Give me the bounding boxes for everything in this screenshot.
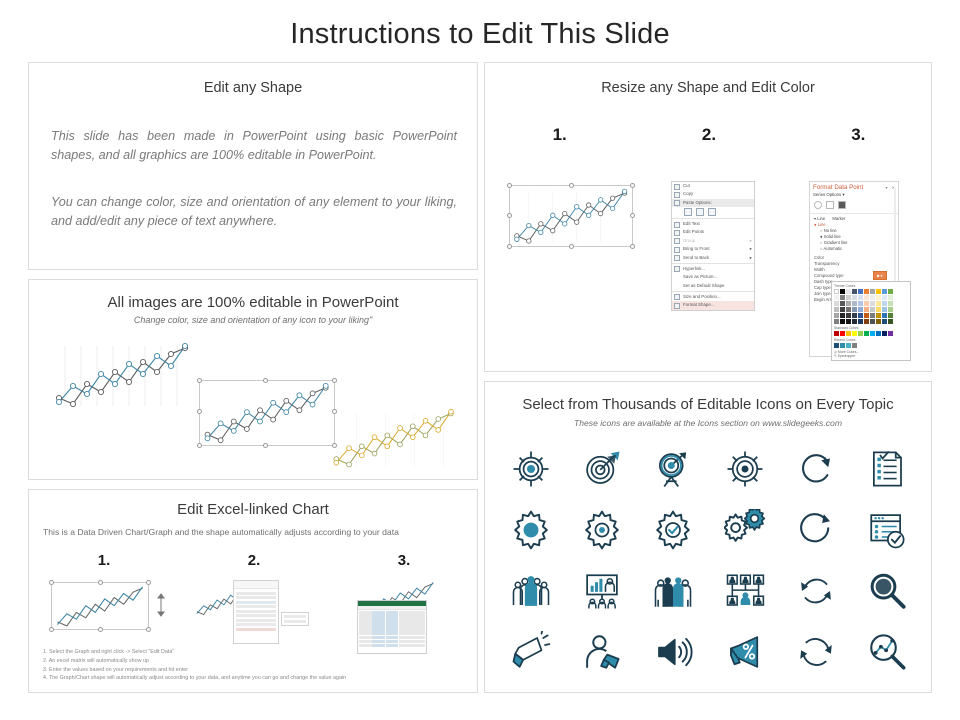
swatch[interactable] <box>876 319 881 324</box>
target-dart-icon[interactable] <box>581 448 623 490</box>
gears-pair-icon[interactable] <box>724 509 766 551</box>
excel-step-2: 2. <box>189 552 319 656</box>
gear-check-icon[interactable] <box>652 509 694 551</box>
swatch[interactable] <box>846 289 851 294</box>
panel-title-images: All images are 100% editable in PowerPoi… <box>29 294 477 311</box>
swatch[interactable] <box>876 307 881 312</box>
selection-handle[interactable] <box>507 213 512 218</box>
format-pane-tabs[interactable] <box>810 199 898 212</box>
menu-item-label: Edit Text <box>683 221 700 226</box>
theme-colors-grid[interactable] <box>834 289 908 324</box>
theme-colors-label: Theme Colors <box>834 284 908 288</box>
panel-edit-excel-chart: Edit Excel-linked Chart This is a Data D… <box>28 489 478 693</box>
eyedropper-row[interactable]: ✎ Eyedropper <box>834 354 908 358</box>
menu-item-label: Bring to Front <box>683 246 710 251</box>
swatch[interactable] <box>888 319 893 324</box>
excel-bullet: 4. The Graph/Chart shape will automatica… <box>43 674 467 683</box>
step-art <box>39 578 169 656</box>
chevron-down-icon: ▾ <box>881 273 883 278</box>
swatch[interactable] <box>858 319 863 324</box>
cut-icon <box>674 184 680 190</box>
selection-handle[interactable] <box>98 580 103 585</box>
swatch[interactable] <box>852 307 857 312</box>
selection-handle[interactable] <box>146 580 151 585</box>
excel-bullet: 1. Select the Graph and right click -> S… <box>43 648 467 657</box>
option-label: Solid line <box>824 234 841 239</box>
menu-item-edit-points[interactable]: Edit Points <box>672 228 754 236</box>
magnifier-analytics-icon[interactable] <box>866 631 908 673</box>
option-label: Gradient line <box>824 240 848 245</box>
swatch[interactable] <box>834 331 839 336</box>
swatch[interactable] <box>876 295 881 300</box>
swatch[interactable] <box>858 295 863 300</box>
step-art <box>189 578 319 656</box>
menu-item-copy[interactable]: Copy <box>672 190 754 198</box>
menu-item-format-shape[interactable]: Format Shape... <box>672 301 754 309</box>
line-sublabel: Line <box>818 222 826 227</box>
selection-handle[interactable] <box>49 580 54 585</box>
chevron-right-icon: ▸ <box>750 254 752 262</box>
menu-item-label: Paste Options: <box>683 200 712 205</box>
selection-handle[interactable] <box>507 183 512 188</box>
swatch[interactable] <box>888 331 893 336</box>
swatch[interactable] <box>852 343 857 348</box>
swatch[interactable] <box>888 295 893 300</box>
selection-handle[interactable] <box>569 244 574 249</box>
swatch[interactable] <box>864 331 869 336</box>
menu-item-set-default-shape[interactable]: Set as Default Shape <box>672 282 754 290</box>
menu-item-save-as-picture[interactable]: Save as Picture... <box>672 273 754 281</box>
swatch[interactable] <box>882 289 887 294</box>
selection-handle[interactable] <box>197 378 202 383</box>
mini-submenu[interactable] <box>281 612 309 626</box>
selection-handle[interactable] <box>146 627 151 632</box>
chevron-right-icon: ▸ <box>750 245 752 253</box>
person-announce-icon[interactable] <box>581 631 623 673</box>
swatch[interactable] <box>852 295 857 300</box>
tab-effects-icon[interactable] <box>826 201 834 209</box>
megaphone-icon[interactable] <box>510 631 552 673</box>
swatch[interactable] <box>840 331 845 336</box>
selection-handle[interactable] <box>98 627 103 632</box>
recent-colors-grid[interactable] <box>834 343 908 348</box>
checklist-document-icon[interactable] <box>866 448 908 490</box>
step-number: 2. <box>189 552 319 569</box>
menu-item-label: Hyperlink... <box>683 266 705 271</box>
swatch[interactable] <box>846 319 851 324</box>
standard-colors-label: Standard Colors <box>834 326 908 330</box>
swatch[interactable] <box>846 307 851 312</box>
swatch[interactable] <box>870 295 875 300</box>
target-scope-icon[interactable] <box>724 448 766 490</box>
menu-item-hyperlink[interactable]: Hyperlink... <box>672 265 754 273</box>
swatch[interactable] <box>846 295 851 300</box>
panel-title-edit-shape: Edit any Shape <box>29 80 477 96</box>
step-number: 3. <box>339 552 469 569</box>
swatch[interactable] <box>840 301 845 306</box>
menu-item-size-and-position[interactable]: Size and Position... <box>672 293 754 301</box>
edit-shape-paragraph-1: This slide has been made in PowerPoint u… <box>51 127 457 165</box>
swatch[interactable] <box>852 313 857 318</box>
chevron-down-icon[interactable]: ▾ <box>842 192 844 197</box>
line-chart-gold[interactable] <box>329 408 461 470</box>
swatch[interactable] <box>888 301 893 306</box>
pane-options-icon[interactable]: ▾ <box>886 185 888 190</box>
menu-item-label: Send to Back <box>683 255 709 260</box>
chevron-down-icon[interactable]: ▾ <box>814 216 816 221</box>
selection-handle[interactable] <box>49 627 54 632</box>
resize-step-2: 2. <box>634 125 783 145</box>
sync-rotate-icon[interactable] <box>795 631 837 673</box>
mini-context-menu[interactable] <box>233 580 279 644</box>
selection-handle[interactable] <box>197 443 202 448</box>
swatch[interactable] <box>846 331 851 336</box>
target-stand-icon[interactable] <box>652 448 694 490</box>
excel-step-3: 3. <box>339 552 469 656</box>
swatch[interactable] <box>840 307 845 312</box>
panel-editable-icons: Select from Thousands of Editable Icons … <box>484 381 932 693</box>
menu-item-bring-to-front[interactable]: Bring to Front ▸ <box>672 245 754 253</box>
swatch[interactable] <box>876 313 881 318</box>
org-chart-people-icon[interactable] <box>724 570 766 612</box>
line-chart-teal-2 <box>200 381 336 447</box>
resize-step-3: 3. <box>784 125 933 145</box>
menu-item-edit-text[interactable]: Edit Text <box>672 220 754 228</box>
excel-bullet: 2. An excel matrix will automatically sh… <box>43 657 467 666</box>
swatch[interactable] <box>882 295 887 300</box>
resize-step-1: 1. <box>485 125 634 145</box>
size-position-icon <box>674 294 680 300</box>
selection-handle[interactable] <box>332 378 337 383</box>
swatch[interactable] <box>852 319 857 324</box>
hyperlink-icon <box>674 266 680 272</box>
swatch[interactable] <box>870 307 875 312</box>
step-number: 2. <box>634 125 783 145</box>
step-number: 3. <box>784 125 933 145</box>
swatch[interactable] <box>864 301 869 306</box>
swatch[interactable] <box>852 301 857 306</box>
color-dropdown-button[interactable]: ■ ▾ <box>873 271 887 280</box>
menu-item-label: Edit Points <box>683 229 704 234</box>
selection-handle[interactable] <box>569 183 574 188</box>
copy-icon <box>674 192 680 198</box>
swatch[interactable] <box>840 343 845 348</box>
resize-chart-selection[interactable] <box>509 185 633 247</box>
resize-steps-row: 1. 2. 3. <box>485 125 933 145</box>
bring-to-front-icon <box>674 247 680 253</box>
excel-step-1: 1. <box>39 552 169 656</box>
team-group-icon[interactable] <box>510 570 552 612</box>
swatch[interactable] <box>840 289 845 294</box>
panel-subtitle-icons: These icons are available at the Icons s… <box>485 418 931 428</box>
swatch[interactable] <box>882 313 887 318</box>
swatch[interactable] <box>870 331 875 336</box>
selection-handle[interactable] <box>630 213 635 218</box>
icon-grid <box>495 438 923 682</box>
eyedropper-label: Eyedropper <box>838 354 856 358</box>
send-to-back-icon <box>674 255 680 261</box>
series-options-text: Series Options <box>813 192 841 197</box>
excel-bullet-list: 1. Select the Graph and right click -> S… <box>43 648 467 683</box>
refresh-clockwise-icon[interactable] <box>795 448 837 490</box>
tab-marker-label[interactable]: Marker <box>832 216 845 221</box>
mini-line-chart <box>52 583 150 631</box>
panel-subtitle-images: Change color, size and orientation of an… <box>29 315 477 325</box>
paste-icon <box>674 200 680 206</box>
selection-handle[interactable] <box>197 409 202 414</box>
menu-item-label: Group <box>683 238 695 243</box>
swatch[interactable] <box>834 319 839 324</box>
paste-keep-formatting-icon[interactable] <box>684 208 692 216</box>
sync-arrows-icon[interactable] <box>795 570 837 612</box>
swatch[interactable] <box>858 313 863 318</box>
swatch[interactable] <box>870 313 875 318</box>
context-menu[interactable]: Cut Copy Paste Options: Edit Text <box>671 181 755 311</box>
menu-item-cut[interactable]: Cut <box>672 182 754 190</box>
edit-points-icon <box>674 230 680 236</box>
step-number: 1. <box>485 125 634 145</box>
checklist-approved-icon[interactable] <box>866 509 908 551</box>
page-title: Instructions to Edit This Slide <box>0 18 960 51</box>
color-picker-popup[interactable]: Theme Colors <box>831 281 911 361</box>
paste-option-icons[interactable] <box>672 207 754 217</box>
option-label: Automatic <box>823 246 842 251</box>
menu-item-group: Group ▸ <box>672 237 754 245</box>
swatch[interactable] <box>864 313 869 318</box>
paste-picture-icon[interactable] <box>696 208 704 216</box>
swatch[interactable] <box>834 301 839 306</box>
menu-item-label: Set as Default Shape <box>683 283 725 288</box>
swatch[interactable] <box>834 289 839 294</box>
swatch[interactable] <box>846 301 851 306</box>
option-label: No line <box>824 228 837 233</box>
swatch[interactable] <box>846 313 851 318</box>
swatch[interactable] <box>858 331 863 336</box>
eyedropper-icon: ✎ <box>834 354 837 358</box>
selection-handle[interactable] <box>507 244 512 249</box>
panel-title-excel: Edit Excel-linked Chart <box>29 501 477 518</box>
excel-bullet: 3. Enter the values based on your requir… <box>43 666 467 675</box>
menu-divider <box>672 263 754 264</box>
color-swatch: ■ <box>877 273 879 278</box>
swatch[interactable] <box>846 343 851 348</box>
menu-item-label: Format Shape... <box>683 302 714 307</box>
tab-line-label[interactable]: Line <box>817 216 825 221</box>
menu-item-label: Copy <box>683 191 693 196</box>
magnifier-icon[interactable] <box>866 570 908 612</box>
swatch[interactable] <box>834 307 839 312</box>
swatch[interactable] <box>888 289 893 294</box>
excel-steps-row: 1. <box>29 552 479 656</box>
swatch[interactable] <box>852 289 857 294</box>
excel-lead-text: This is a Data Driven Chart/Graph and th… <box>43 526 463 539</box>
swatch[interactable] <box>882 331 887 336</box>
swatch[interactable] <box>834 295 839 300</box>
standard-colors-grid[interactable] <box>834 331 908 336</box>
panel-images-editable: All images are 100% editable in PowerPoi… <box>28 279 478 480</box>
format-pane-title: Format Data Point <box>810 182 866 191</box>
tab-fill-icon[interactable] <box>814 201 822 209</box>
swatch[interactable] <box>840 313 845 318</box>
speaker-sound-icon[interactable] <box>652 631 694 673</box>
paste-text-only-icon[interactable] <box>708 208 716 216</box>
swatch[interactable] <box>882 319 887 324</box>
menu-item-label: Save as Picture... <box>683 274 717 279</box>
swatch[interactable] <box>870 289 875 294</box>
edit-shape-paragraph-2: You can change color, size and orientati… <box>51 193 457 231</box>
swatch[interactable] <box>858 289 863 294</box>
step-number: 1. <box>39 552 169 569</box>
refresh-circle-icon[interactable] <box>795 509 837 551</box>
swatch[interactable] <box>882 307 887 312</box>
menu-divider <box>672 218 754 219</box>
swatch[interactable] <box>882 301 887 306</box>
group-icon <box>674 238 680 244</box>
swatch[interactable] <box>864 295 869 300</box>
menu-divider <box>672 291 754 292</box>
line-chart-selected <box>510 186 634 248</box>
panel-title-resize: Resize any Shape and Edit Color <box>485 80 931 96</box>
panel-resize-edit-color: Resize any Shape and Edit Color 1. 2. 3. <box>484 62 932 372</box>
swatch[interactable] <box>888 307 893 312</box>
swatch[interactable] <box>864 319 869 324</box>
menu-item-label: Cut <box>683 183 690 188</box>
chevron-right-icon: ▸ <box>750 237 752 245</box>
panel-title-icons: Select from Thousands of Editable Icons … <box>485 396 931 413</box>
swatch[interactable] <box>834 343 839 348</box>
swatch[interactable] <box>840 319 845 324</box>
swatch[interactable] <box>858 307 863 312</box>
swatch[interactable] <box>864 289 869 294</box>
presentation-training-icon[interactable] <box>581 570 623 612</box>
swatch[interactable] <box>888 313 893 318</box>
edit-text-icon <box>674 222 680 228</box>
menu-item-label: Size and Position... <box>683 294 721 299</box>
menu-item-paste-options[interactable]: Paste Options: <box>672 199 754 207</box>
chart-selection-box[interactable] <box>199 380 335 446</box>
swatch[interactable] <box>834 313 839 318</box>
mini-chart-selection[interactable] <box>51 582 149 630</box>
menu-item-send-to-back[interactable]: Send to Back ▸ <box>672 254 754 262</box>
swatch[interactable] <box>840 295 845 300</box>
selection-handle[interactable] <box>263 443 268 448</box>
swatch[interactable] <box>858 301 863 306</box>
swatch[interactable] <box>864 307 869 312</box>
slide-canvas: Instructions to Edit This Slide Edit any… <box>0 0 960 720</box>
format-shape-icon <box>674 303 680 309</box>
gear-outline-icon[interactable] <box>581 509 623 551</box>
step-art <box>339 578 469 656</box>
selection-handle[interactable] <box>630 183 635 188</box>
megaphone-discount-icon[interactable] <box>724 631 766 673</box>
gear-solid-icon[interactable] <box>510 509 552 551</box>
target-crosshair-icon[interactable] <box>510 448 552 490</box>
resize-cursor-icon <box>153 592 169 618</box>
panel-edit-any-shape: Edit any Shape This slide has been made … <box>28 62 478 270</box>
series-options-label[interactable]: Series Options ▾ <box>810 191 898 199</box>
selection-handle[interactable] <box>630 244 635 249</box>
recent-colors-label: Recent Colors <box>834 338 908 342</box>
swatch[interactable] <box>870 319 875 324</box>
selection-handle[interactable] <box>263 378 268 383</box>
mini-excel-grid[interactable] <box>357 600 427 654</box>
swatch[interactable] <box>876 331 881 336</box>
swatch[interactable] <box>852 331 857 336</box>
swatch[interactable] <box>870 301 875 306</box>
tab-chart-icon[interactable] <box>838 201 846 209</box>
line-chart-teal-1[interactable] <box>51 342 196 410</box>
people-trio-icon[interactable] <box>652 570 694 612</box>
swatch[interactable] <box>876 301 881 306</box>
swatch[interactable] <box>876 289 881 294</box>
